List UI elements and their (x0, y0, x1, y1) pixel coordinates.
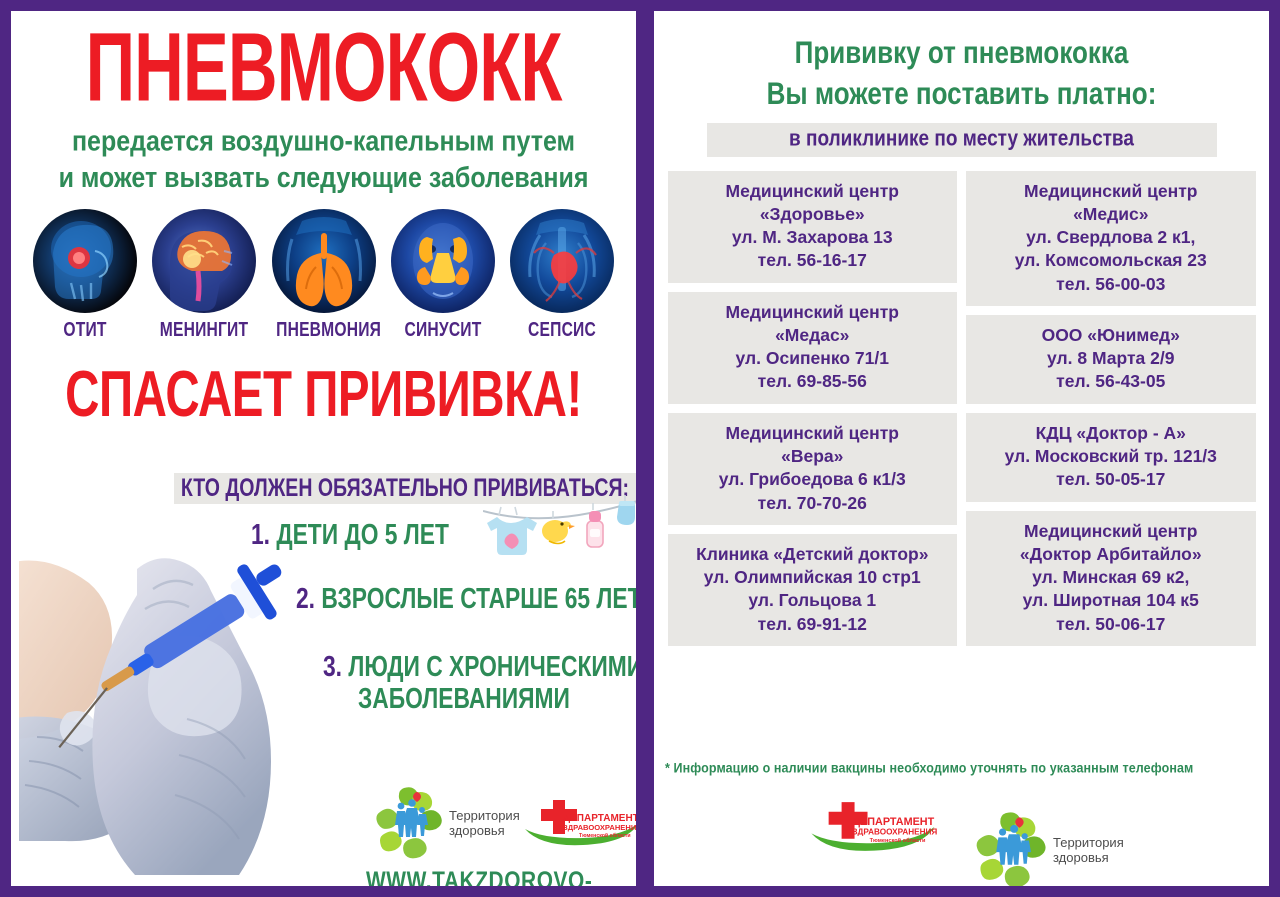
department-line-2: ЗДРАВООХРАНЕНИЯ (852, 827, 937, 836)
department-line-2: ЗДРАВООХРАНЕНИЯ (563, 823, 636, 832)
territory-of-health-logo: Территория здоровья (374, 786, 520, 860)
baby-clothesline-icon (483, 493, 636, 565)
clinic-phone: тел. 69-85-56 (674, 370, 952, 393)
clinic-name: КДЦ «Доктор - А» (972, 422, 1250, 445)
territory-line-1: Территория (449, 808, 520, 823)
clinic-card[interactable]: КДЦ «Доктор - А» ул. Московский тр. 121/… (966, 413, 1256, 502)
territory-of-health-logo: Территория здоровья (974, 811, 1124, 886)
subtitle-line-1: передается воздушно-капельным путем (11, 123, 636, 159)
clinic-address: ул. Минская 69 к2, (972, 566, 1250, 589)
disease-label: ОТИТ (37, 318, 133, 342)
clinic-address-2: ул. Широтная 104 к5 (972, 589, 1250, 612)
subtitle-block: передается воздушно-капельным путем и мо… (11, 123, 636, 196)
clinic-phone: тел. 50-06-17 (972, 613, 1250, 636)
sinus-face-xray-icon (391, 209, 495, 313)
health-department-logo: ДЕПАРТАМЕНТ ЗДРАВООХРАНЕНИЯ Тюменской об… (523, 799, 636, 849)
polyclinic-banner-text: в поликлинике по месту жительства (789, 127, 1134, 152)
clinic-address: ул. Осипенко 71/1 (674, 347, 952, 370)
territory-leaf-people-icon (974, 811, 1048, 886)
department-line-1: ДЕПАРТАМЕНТ (852, 816, 934, 828)
territory-line-2: здоровья (449, 823, 520, 838)
territory-leaf-people-icon (374, 786, 444, 860)
clinic-column-right: Медицинский центр «Медис» ул. Свердлова … (966, 171, 1256, 646)
circulatory-xray-glyph (510, 209, 614, 313)
availability-footnote: * Информацию о наличии вакцины необходим… (665, 760, 1193, 776)
brain-xray-icon (152, 209, 256, 313)
list-item-number: 2. (296, 583, 315, 615)
list-item-label: ЗАБОЛЕВАНИЯМИ (358, 683, 570, 715)
website-url[interactable]: WWW.TAKZDOROVO-TO.RU (366, 866, 623, 886)
list-item: 3. ЛЮДИ С ХРОНИЧЕСКИМИ (323, 651, 636, 684)
clinic-brand: «Здоровье» (674, 203, 952, 226)
clothesline-glyph (483, 493, 636, 565)
clinic-address: ул. Грибоедова 6 к1/3 (674, 468, 952, 491)
disease-item-otit: ОТИТ (33, 209, 137, 340)
disease-label: СЕПСИС (514, 318, 610, 342)
panel-divider (636, 11, 654, 886)
clinic-card[interactable]: Медицинский центр «Медас» ул. Осипенко 7… (668, 292, 958, 404)
department-line-3: Тюменской области (870, 837, 926, 844)
clinic-card[interactable]: Медицинский центр «Здоровье» ул. М. Заха… (668, 171, 958, 283)
right-heading: Прививку от пневмококка Вы можете постав… (654, 33, 1269, 114)
clinic-card[interactable]: Клиника «Детский доктор» ул. Олимпийская… (668, 534, 958, 646)
brain-xray-glyph (152, 209, 256, 313)
clinic-phone: тел. 56-43-05 (972, 370, 1250, 393)
lungs-xray-glyph (272, 209, 376, 313)
clinic-address: ул. 8 Марта 2/9 (972, 347, 1250, 370)
list-item-label: ЛЮДИ С ХРОНИЧЕСКИМИ (348, 651, 636, 683)
clinic-phone: тел. 56-16-17 (674, 249, 952, 272)
clinic-column-left: Медицинский центр «Здоровье» ул. М. Заха… (668, 171, 958, 646)
poster-root: ПНЕВМОКОКК передается воздушно-капельным… (0, 0, 1280, 897)
clinic-name: Медицинский центр (674, 422, 952, 445)
clinic-phone: тел. 70-70-26 (674, 492, 952, 515)
clinic-name: Клиника «Детский доктор» (674, 543, 952, 566)
list-item: 2. ВЗРОСЛЫЕ СТАРШЕ 65 ЛЕТ (296, 583, 636, 616)
clinic-phone: тел. 69-91-12 (674, 613, 952, 636)
clinic-brand: «Медас» (674, 324, 952, 347)
clinic-brand: «Медис» (972, 203, 1250, 226)
list-item-number: 1. (251, 519, 270, 551)
disease-item-pnevmoniya: ПНЕВМОНИЯ (272, 209, 376, 340)
clinic-name: Медицинский центр (972, 180, 1250, 203)
list-item-number: 3. (323, 651, 342, 683)
save-slogan: СПАСАЕТ ПРИВИВКА! (27, 356, 621, 431)
clinic-name: Медицинский центр (674, 180, 952, 203)
sinus-face-xray-glyph (391, 209, 495, 313)
clinic-brand: «Вера» (674, 445, 952, 468)
disease-label: ПНЕВМОНИЯ (276, 318, 372, 342)
clinic-name: Медицинский центр (674, 301, 952, 324)
territory-logo-text: Территория здоровья (449, 808, 520, 839)
right-heading-line-2: Вы можете поставить платно: (654, 74, 1269, 115)
right-panel: Прививку от пневмококка Вы можете постав… (654, 11, 1269, 886)
left-panel: ПНЕВМОКОКК передается воздушно-капельным… (11, 11, 636, 886)
clinic-card[interactable]: Медицинский центр «Вера» ул. Грибоедова … (668, 413, 958, 525)
list-item-label: ДЕТИ ДО 5 ЛЕТ (276, 519, 449, 551)
list-item-label: ВЗРОСЛЫЕ СТАРШЕ 65 ЛЕТ (321, 583, 636, 615)
disease-label: МЕНИНГИТ (156, 318, 252, 342)
head-ear-xray-glyph (33, 209, 137, 313)
clinic-phone: тел. 50-05-17 (972, 468, 1250, 491)
health-department-logo: ДЕПАРТАМЕНТ ЗДРАВООХРАНЕНИЯ Тюменской об… (809, 801, 929, 851)
territory-line-2: здоровья (1053, 850, 1124, 865)
clinic-name: Медицинский центр (972, 520, 1250, 543)
polyclinic-banner: в поликлинике по месту жительства (707, 123, 1217, 157)
clinic-card[interactable]: Медицинский центр «Доктор Арбитайло» ул.… (966, 511, 1256, 646)
circulatory-xray-icon (510, 209, 614, 313)
clinic-grid: Медицинский центр «Здоровье» ул. М. Заха… (664, 171, 1260, 646)
disease-item-sepsis: СЕПСИС (510, 209, 614, 340)
vaccination-syringe-photo (19, 523, 349, 886)
clinic-brand: «Доктор Арбитайло» (972, 543, 1250, 566)
clinic-name: ООО «Юнимед» (972, 324, 1250, 347)
clinic-address: ул. Свердлова 2 к1, (972, 226, 1250, 249)
clinic-address: ул. М. Захарова 13 (674, 226, 952, 249)
clinic-address-2: ул. Комсомольская 23 (972, 249, 1250, 272)
clinic-address: ул. Олимпийская 10 стр1 (674, 566, 952, 589)
territory-logo-text: Территория здоровья (1053, 835, 1124, 866)
clinic-card[interactable]: Медицинский центр «Медис» ул. Свердлова … (966, 171, 1256, 306)
territory-line-1: Территория (1053, 835, 1124, 850)
disease-item-sinusit: СИНУСИТ (391, 209, 495, 340)
department-line-3: Тюменской области (579, 832, 631, 839)
list-item-continuation: ЗАБОЛЕВАНИЯМИ (358, 683, 570, 716)
page-title: ПНЕВМОКОКК (33, 20, 614, 116)
disease-item-meningit: МЕНИНГИТ (152, 209, 256, 340)
department-cross-swoosh-icon: ДЕПАРТАМЕНТ ЗДРАВООХРАНЕНИЯ Тюменской об… (809, 801, 939, 855)
clinic-phone: тел. 56-00-03 (972, 273, 1250, 296)
clinic-card[interactable]: ООО «Юнимед» ул. 8 Марта 2/9 тел. 56-43-… (966, 315, 1256, 404)
lungs-xray-icon (272, 209, 376, 313)
disease-label: СИНУСИТ (395, 318, 491, 342)
clinic-address-2: ул. Гольцова 1 (674, 589, 952, 612)
department-cross-swoosh-icon: ДЕПАРТАМЕНТ ЗДРАВООХРАНЕНИЯ Тюменской об… (523, 799, 636, 849)
disease-icon-row: ОТИТ МЕНИНГИТ (11, 209, 636, 340)
head-ear-xray-icon (33, 209, 137, 313)
vaccination-photo-glyph (19, 523, 349, 886)
right-heading-line-1: Прививку от пневмококка (654, 33, 1269, 74)
clinic-address: ул. Московский тр. 121/3 (972, 445, 1250, 468)
list-item: 1. ДЕТИ ДО 5 ЛЕТ (251, 519, 449, 552)
subtitle-line-2: и может вызвать следующие заболевания (11, 159, 636, 195)
